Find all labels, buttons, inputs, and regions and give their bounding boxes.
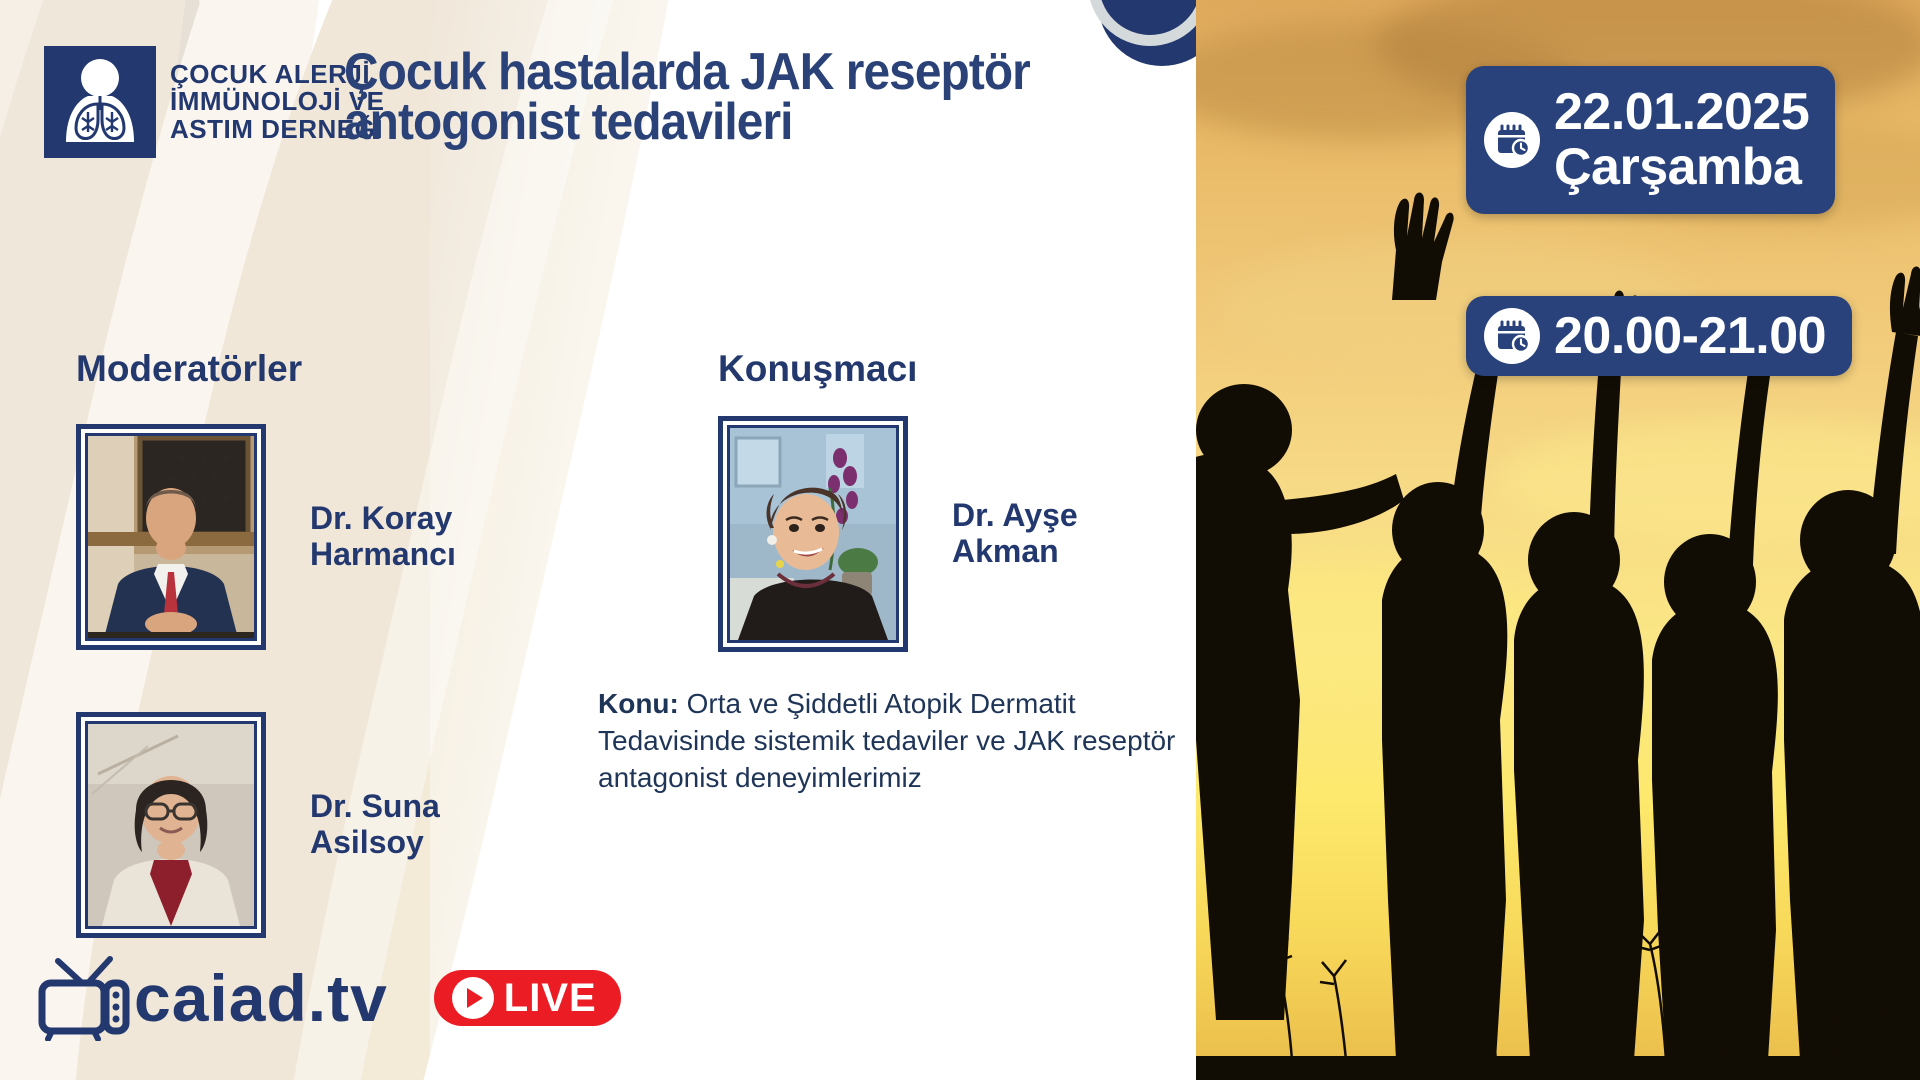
retro-tv-icon — [36, 955, 140, 1041]
speaker-name: Dr. Ayşe Akman — [952, 498, 1078, 570]
portrait-koray-harmanci — [85, 433, 257, 641]
moderators-heading: Moderatörler — [76, 348, 302, 390]
moderator-name: Dr. Koray Harmancı — [310, 501, 456, 573]
webinar-poster: ÇOCUK ALERJİ İMMÜNOLOJİ VE ASTIM DERNEĞİ… — [0, 0, 1920, 1080]
organization-logo: ÇOCUK ALERJİ İMMÜNOLOJİ VE ASTIM DERNEĞİ — [44, 46, 385, 158]
calendar-clock-icon — [1484, 112, 1540, 168]
live-badge[interactable]: LIVE — [434, 970, 621, 1026]
topic-body: Orta ve Şiddetli Atopik Dermatit Tedavis… — [598, 688, 1175, 793]
lungs-torso-icon — [44, 46, 156, 158]
time-text: 20.00-21.00 — [1554, 309, 1852, 364]
photo-frame — [76, 712, 266, 938]
moderator-entry: Dr. Suna Asilsoy — [76, 712, 440, 938]
moderator-name: Dr. Suna Asilsoy — [310, 789, 440, 861]
live-label: LIVE — [504, 976, 597, 1021]
speaker-heading: Konuşmacı — [718, 348, 917, 390]
poster-title: Çocuk hastalarda JAK reseptör antogonist… — [344, 48, 1098, 148]
photo-frame — [718, 416, 908, 652]
calendar-clock-icon — [1484, 308, 1540, 364]
topic-label: Konu: — [598, 688, 679, 719]
photo-frame — [76, 424, 266, 650]
title-line-2: antogonist tedavileri — [344, 98, 1098, 148]
topic-text: Konu: Orta ve Şiddetli Atopik Dermatit T… — [598, 686, 1198, 797]
brand-name[interactable]: caiad.tv — [134, 960, 388, 1036]
date-badge: 22.01.2025 Çarşamba — [1466, 66, 1835, 214]
moderator-entry: Dr. Koray Harmancı — [76, 424, 456, 650]
time-badge: 20.00-21.00 — [1466, 296, 1852, 376]
portrait-suna-asilsoy — [85, 721, 257, 929]
play-icon — [452, 977, 494, 1019]
speaker-entry: Dr. Ayşe Akman — [718, 416, 1078, 652]
brand-bar: caiad.tv LIVE — [36, 955, 621, 1041]
date-text: 22.01.2025 Çarşamba — [1554, 85, 1835, 194]
portrait-ayse-akman — [727, 425, 899, 643]
